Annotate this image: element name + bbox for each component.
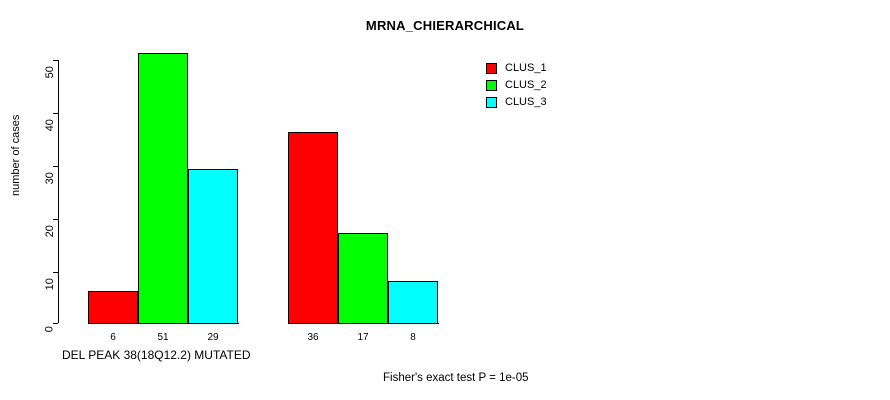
bar-group2-clus1[interactable]: [288, 132, 338, 324]
legend-swatch-clus2-icon: [486, 80, 497, 91]
bar-label-group2-clus2: 17: [338, 333, 388, 343]
y-axis-tick-20: [53, 219, 58, 220]
bar-label-group2-clus3: 8: [388, 333, 438, 343]
bar-label-group1-clus3: 29: [188, 333, 238, 343]
legend-swatch-clus1-icon: [486, 63, 497, 74]
group2-baseline: [288, 323, 439, 324]
plot-area: 50 40 30 20 10 0: [58, 52, 458, 324]
y-axis-tick-50: [53, 60, 58, 61]
legend-item-clus2[interactable]: CLUS_2: [486, 77, 547, 94]
y-axis-title: number of cases: [10, 115, 22, 196]
bar-label-group2-clus1: 36: [288, 333, 338, 343]
bar-group2-clus3[interactable]: [388, 281, 438, 324]
bar-label-group1-clus2: 51: [138, 333, 188, 343]
legend-item-clus3[interactable]: CLUS_3: [486, 94, 547, 111]
bar-group2-clus2[interactable]: [338, 233, 388, 324]
group1-label: DEL PEAK 38(18Q12.2) MUTATED: [62, 349, 251, 361]
legend: CLUS_1 CLUS_2 CLUS_3: [486, 60, 547, 111]
legend-label-clus1: CLUS_1: [505, 63, 547, 74]
y-axis-label-50: 50: [45, 66, 56, 78]
y-axis-tick-40: [53, 113, 58, 114]
legend-item-clus1[interactable]: CLUS_1: [486, 60, 547, 77]
y-axis-tick-30: [53, 166, 58, 167]
bar-group1-clus2[interactable]: [138, 53, 188, 324]
legend-swatch-clus3-icon: [486, 97, 497, 108]
y-axis-line: [58, 60, 59, 323]
y-axis-tick-0: [53, 323, 58, 324]
bar-group1-clus1[interactable]: [88, 291, 138, 324]
y-axis-tick-10: [53, 272, 58, 273]
legend-label-clus2: CLUS_2: [505, 80, 547, 91]
bar-label-group1-clus1: 6: [88, 333, 138, 343]
legend-label-clus3: CLUS_3: [505, 97, 547, 108]
y-axis-label-40: 40: [45, 119, 56, 131]
chart-title: MRNA_CHIERARCHICAL: [0, 18, 890, 33]
y-axis-label-0: 0: [45, 326, 56, 332]
chart-canvas: MRNA_CHIERARCHICAL number of cases 50 40…: [0, 0, 890, 400]
statistical-test-annotation: Fisher's exact test P = 1e-05: [383, 372, 529, 384]
y-axis-label-30: 30: [45, 172, 56, 184]
y-axis-label-10: 10: [45, 278, 56, 290]
y-axis-label-20: 20: [45, 225, 56, 237]
bar-group1-clus3[interactable]: [188, 169, 238, 324]
group1-baseline: [88, 323, 239, 324]
